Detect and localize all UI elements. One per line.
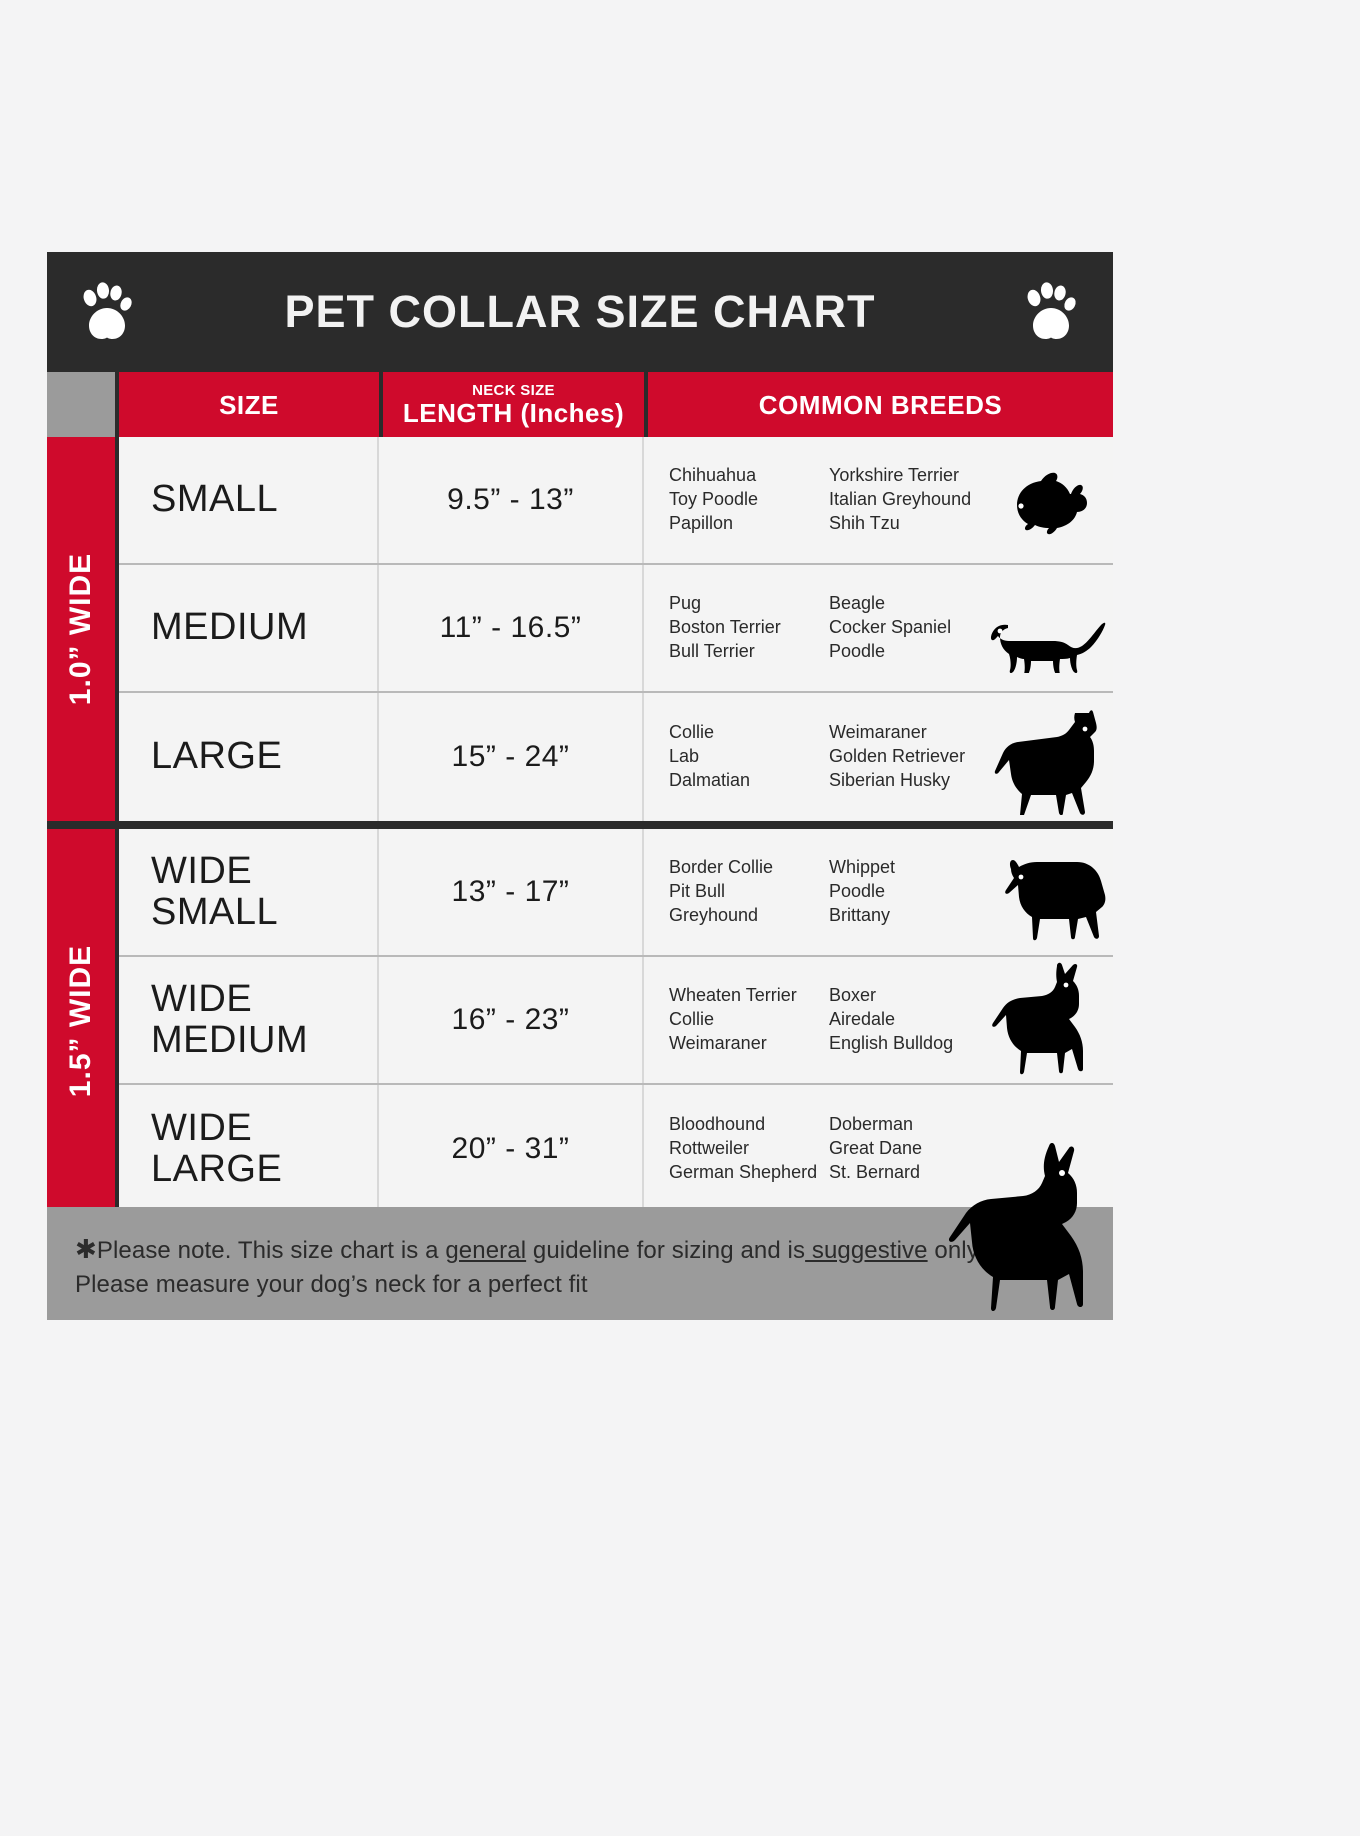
length-value: 11” - 16.5”: [440, 611, 582, 645]
breed-item: Weimaraner: [669, 1032, 829, 1056]
length-value: 13” - 17”: [452, 875, 570, 909]
breed-item: Bloodhound: [669, 1113, 829, 1137]
length-value: 15” - 24”: [452, 740, 570, 774]
breed-item: Weimaraner: [829, 721, 979, 745]
breed-item: Brittany: [829, 904, 979, 928]
header-label-size: SIZE: [219, 392, 279, 418]
breed-item: Wheaten Terrier: [669, 984, 829, 1008]
shepherd-silhouette-icon: [985, 707, 1109, 815]
breed-item: Golden Retriever: [829, 745, 979, 769]
size-label-line: LARGE: [151, 736, 282, 777]
table-row: WIDE MEDIUM 16” - 23” Wheaten Terrier Co…: [119, 957, 1113, 1085]
cell-length: 13” - 17”: [379, 829, 644, 955]
breeds-column-2: Weimaraner Golden Retriever Siberian Hus…: [829, 721, 979, 793]
paw-print-icon: [80, 282, 136, 344]
breed-item: Border Collie: [669, 856, 829, 880]
breeds-column-1: Wheaten Terrier Collie Weimaraner: [669, 984, 829, 1056]
cell-size: WIDE LARGE: [119, 1085, 379, 1213]
cell-size: WIDE SMALL: [119, 829, 379, 955]
breed-item: English Bulldog: [829, 1032, 979, 1056]
breed-item: Pug: [669, 592, 829, 616]
size-label-line: WIDE: [151, 979, 252, 1020]
breed-item: Whippet: [829, 856, 979, 880]
breed-item: Yorkshire Terrier: [829, 464, 979, 488]
footnote-line-2: Please measure your dog’s neck for a per…: [75, 1268, 1085, 1302]
cell-length: 20” - 31”: [379, 1085, 644, 1213]
cell-size: SMALL: [119, 437, 379, 563]
breed-item: Italian Greyhound: [829, 488, 979, 512]
header-label-length: LENGTH (Inches): [403, 400, 624, 426]
header-corner-cell: [47, 372, 119, 437]
cell-size: WIDE MEDIUM: [119, 957, 379, 1083]
table-row: SMALL 9.5” - 13” Chihuahua Toy Poodle Pa…: [119, 437, 1113, 565]
breed-item: Rottweiler: [669, 1137, 829, 1161]
breed-item: Collie: [669, 721, 829, 745]
breed-item: German Shepherd: [669, 1161, 829, 1185]
asterisk-icon: ✱: [75, 1234, 97, 1264]
size-label-line: MEDIUM: [151, 607, 308, 648]
breed-item: Lab: [669, 745, 829, 769]
breeds-column-2: Boxer Airedale English Bulldog: [829, 984, 979, 1056]
bulldog-silhouette-icon: [989, 849, 1107, 947]
cell-common-breeds: Bloodhound Rottweiler German Shepherd Do…: [644, 1085, 1111, 1213]
length-value: 20” - 31”: [452, 1132, 570, 1166]
breed-item: Poodle: [829, 640, 979, 664]
breeds-column-1: Pug Boston Terrier Bull Terrier: [669, 592, 829, 664]
breed-item: Poodle: [829, 880, 979, 904]
size-label-line: WIDE: [151, 1108, 252, 1149]
header-label-neck-size: NECK SIZE: [472, 383, 555, 398]
breed-item: Bull Terrier: [669, 640, 829, 664]
size-table: SIZE NECK SIZE LENGTH (Inches) COMMON BR…: [47, 372, 1113, 1213]
breed-item: Boston Terrier: [669, 616, 829, 640]
footnote-underline-general: general: [445, 1237, 526, 1264]
breed-item: Dalmatian: [669, 769, 829, 793]
breed-item: Greyhound: [669, 904, 829, 928]
table-row: LARGE 15” - 24” Collie Lab Dalmatian: [119, 693, 1113, 821]
paw-print-icon: [1024, 282, 1080, 344]
breed-item: Siberian Husky: [829, 769, 979, 793]
header-cell-size: SIZE: [119, 372, 383, 437]
cell-length: 15” - 24”: [379, 693, 644, 821]
cell-length: 11” - 16.5”: [379, 565, 644, 691]
header-label-common-breeds: COMMON BREEDS: [759, 392, 1002, 418]
footnote-text-b: guideline for sizing and is: [526, 1237, 805, 1264]
breeds-column-1: Chihuahua Toy Poodle Papillon: [669, 464, 829, 536]
group-rail-label: 1.5” WIDE: [64, 945, 98, 1097]
size-label-line: SMALL: [151, 479, 278, 520]
cell-size: LARGE: [119, 693, 379, 821]
breed-item: Collie: [669, 1008, 829, 1032]
footnote-bar: ✱Please note. This size chart is a gener…: [47, 1207, 1113, 1320]
breeds-column-2: Beagle Cocker Spaniel Poodle: [829, 592, 979, 664]
breed-item: Shih Tzu: [829, 512, 979, 536]
footnote-line-1: ✱Please note. This size chart is a gener…: [75, 1231, 1085, 1268]
breeds-column-2: Whippet Poodle Brittany: [829, 856, 979, 928]
breed-item: Doberman: [829, 1113, 979, 1137]
boxer-silhouette-icon: [987, 961, 1109, 1081]
size-label-line: LARGE: [151, 1149, 282, 1190]
size-group-1-5-wide: 1.5” WIDE WIDE SMALL 13” - 17” B: [47, 821, 1113, 1213]
chart-title-bar: PET COLLAR SIZE CHART: [47, 252, 1113, 372]
footnote-underline-suggestive: suggestive: [805, 1237, 928, 1264]
group-rail-label: 1.0” WIDE: [64, 553, 98, 705]
breed-item: Chihuahua: [669, 464, 829, 488]
size-group-1-0-wide: 1.0” WIDE SMALL 9.5” - 13” Chihuahua: [47, 437, 1113, 821]
size-label-line: WIDE: [151, 851, 252, 892]
table-row: MEDIUM 11” - 16.5” Pug Boston Terrier Bu…: [119, 565, 1113, 693]
size-chart-card: PET COLLAR SIZE CHART SIZE: [47, 252, 1113, 1320]
size-label-line: MEDIUM: [151, 1020, 308, 1061]
small-fluffy-dog-silhouette-icon: [985, 461, 1093, 547]
breeds-column-2: Yorkshire Terrier Italian Greyhound Shih…: [829, 464, 979, 536]
beagle-silhouette-icon: [977, 589, 1109, 673]
size-label-line: SMALL: [151, 892, 278, 933]
table-header-row: SIZE NECK SIZE LENGTH (Inches) COMMON BR…: [47, 372, 1113, 437]
breed-item: St. Bernard: [829, 1161, 979, 1185]
group-rail-1-0-wide: 1.0” WIDE: [47, 437, 119, 821]
cell-length: 9.5” - 13”: [379, 437, 644, 563]
cell-common-breeds: Border Collie Pit Bull Greyhound Whippet…: [644, 829, 1111, 955]
page-root: PET COLLAR SIZE CHART SIZE: [0, 0, 1360, 1836]
breed-item: Beagle: [829, 592, 979, 616]
breed-item: Airedale: [829, 1008, 979, 1032]
cell-size: MEDIUM: [119, 565, 379, 691]
cell-common-breeds: Pug Boston Terrier Bull Terrier Beagle C…: [644, 565, 1111, 691]
header-cell-common-breeds: COMMON BREEDS: [648, 372, 1113, 437]
length-value: 9.5” - 13”: [447, 483, 574, 517]
breeds-column-2: Doberman Great Dane St. Bernard: [829, 1113, 979, 1185]
footnote-text-c: only.: [928, 1237, 984, 1264]
table-row: WIDE SMALL 13” - 17” Border Collie Pit B…: [119, 829, 1113, 957]
breed-item: Cocker Spaniel: [829, 616, 979, 640]
page-title: PET COLLAR SIZE CHART: [285, 286, 876, 338]
breed-item: Toy Poodle: [669, 488, 829, 512]
footnote-text-a: Please note. This size chart is a: [97, 1237, 445, 1264]
breed-item: Papillon: [669, 512, 829, 536]
breed-item: Great Dane: [829, 1137, 979, 1161]
group-rail-1-5-wide: 1.5” WIDE: [47, 829, 119, 1213]
breed-item: Boxer: [829, 984, 979, 1008]
breeds-column-1: Border Collie Pit Bull Greyhound: [669, 856, 829, 928]
breeds-column-1: Collie Lab Dalmatian: [669, 721, 829, 793]
header-cell-length: NECK SIZE LENGTH (Inches): [383, 372, 648, 437]
breed-item: Pit Bull: [669, 880, 829, 904]
cell-common-breeds: Collie Lab Dalmatian Weimaraner Golden R…: [644, 693, 1111, 821]
cell-common-breeds: Wheaten Terrier Collie Weimaraner Boxer …: [644, 957, 1111, 1083]
breeds-column-1: Bloodhound Rottweiler German Shepherd: [669, 1113, 829, 1185]
cell-length: 16” - 23”: [379, 957, 644, 1083]
cell-common-breeds: Chihuahua Toy Poodle Papillon Yorkshire …: [644, 437, 1111, 563]
table-row: WIDE LARGE 20” - 31” Bloodhound Rottweil…: [119, 1085, 1113, 1213]
length-value: 16” - 23”: [452, 1003, 570, 1037]
